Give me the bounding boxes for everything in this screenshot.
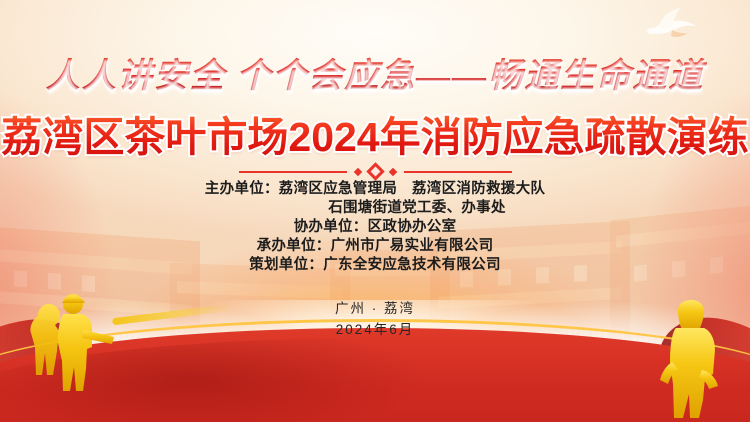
organizer-value: 石围塘街道党工委、办事处	[328, 200, 506, 216]
poster-canvas: 人人讲安全 个个会应急——畅通生命通道 荔湾区茶叶市场2024年消防应急疏散演练…	[0, 0, 750, 422]
organizer-value: 荔湾区应急管理局 荔湾区消防救援大队	[279, 181, 545, 197]
organizer-value: 广州市广易实业有限公司	[331, 238, 494, 254]
organizer-label: 协办单位：	[294, 218, 368, 237]
organizer-row: 协办单位：区政协办公室	[0, 218, 750, 237]
divider-line-left	[239, 171, 347, 173]
footer-block: 广州 · 荔湾 2024年6月	[0, 298, 750, 340]
slogan-text: 人人讲安全 个个会应急——畅通生命通道	[0, 48, 750, 97]
organizer-row: 石围塘街道党工委、办事处	[0, 199, 750, 218]
organizer-row: 承办单位：广州市广易实业有限公司	[0, 237, 750, 256]
footer-date: 2024年6月	[0, 319, 750, 340]
main-title: 荔湾区茶叶市场2024年消防应急疏散演练 荔湾区茶叶市场2024年消防应急疏散演…	[0, 103, 750, 163]
divider-diamond	[366, 162, 384, 180]
poster-content: 人人讲安全 个个会应急——畅通生命通道 荔湾区茶叶市场2024年消防应急疏散演练…	[0, 0, 750, 422]
organizer-label: 主办单位：	[205, 180, 279, 199]
organizer-list: 主办单位：荔湾区应急管理局 荔湾区消防救援大队 石围塘街道党工委、办事处 协办单…	[0, 180, 750, 275]
divider-line-right	[404, 171, 512, 173]
organizer-value: 广东全安应急技术有限公司	[323, 257, 501, 273]
organizer-value: 区政协办公室	[368, 219, 457, 235]
organizer-row: 策划单位：广东全安应急技术有限公司	[0, 256, 750, 275]
footer-location: 广州 · 荔湾	[0, 298, 750, 319]
divider-dot	[353, 167, 361, 175]
organizer-label: 策划单位：	[249, 256, 323, 275]
diamond-divider-icon	[0, 165, 750, 178]
organizer-label: 承办单位：	[257, 237, 331, 256]
divider-dot	[388, 167, 396, 175]
organizer-row: 主办单位：荔湾区应急管理局 荔湾区消防救援大队	[0, 180, 750, 199]
main-title-fill: 荔湾区茶叶市场2024年消防应急疏散演练	[1, 103, 748, 163]
